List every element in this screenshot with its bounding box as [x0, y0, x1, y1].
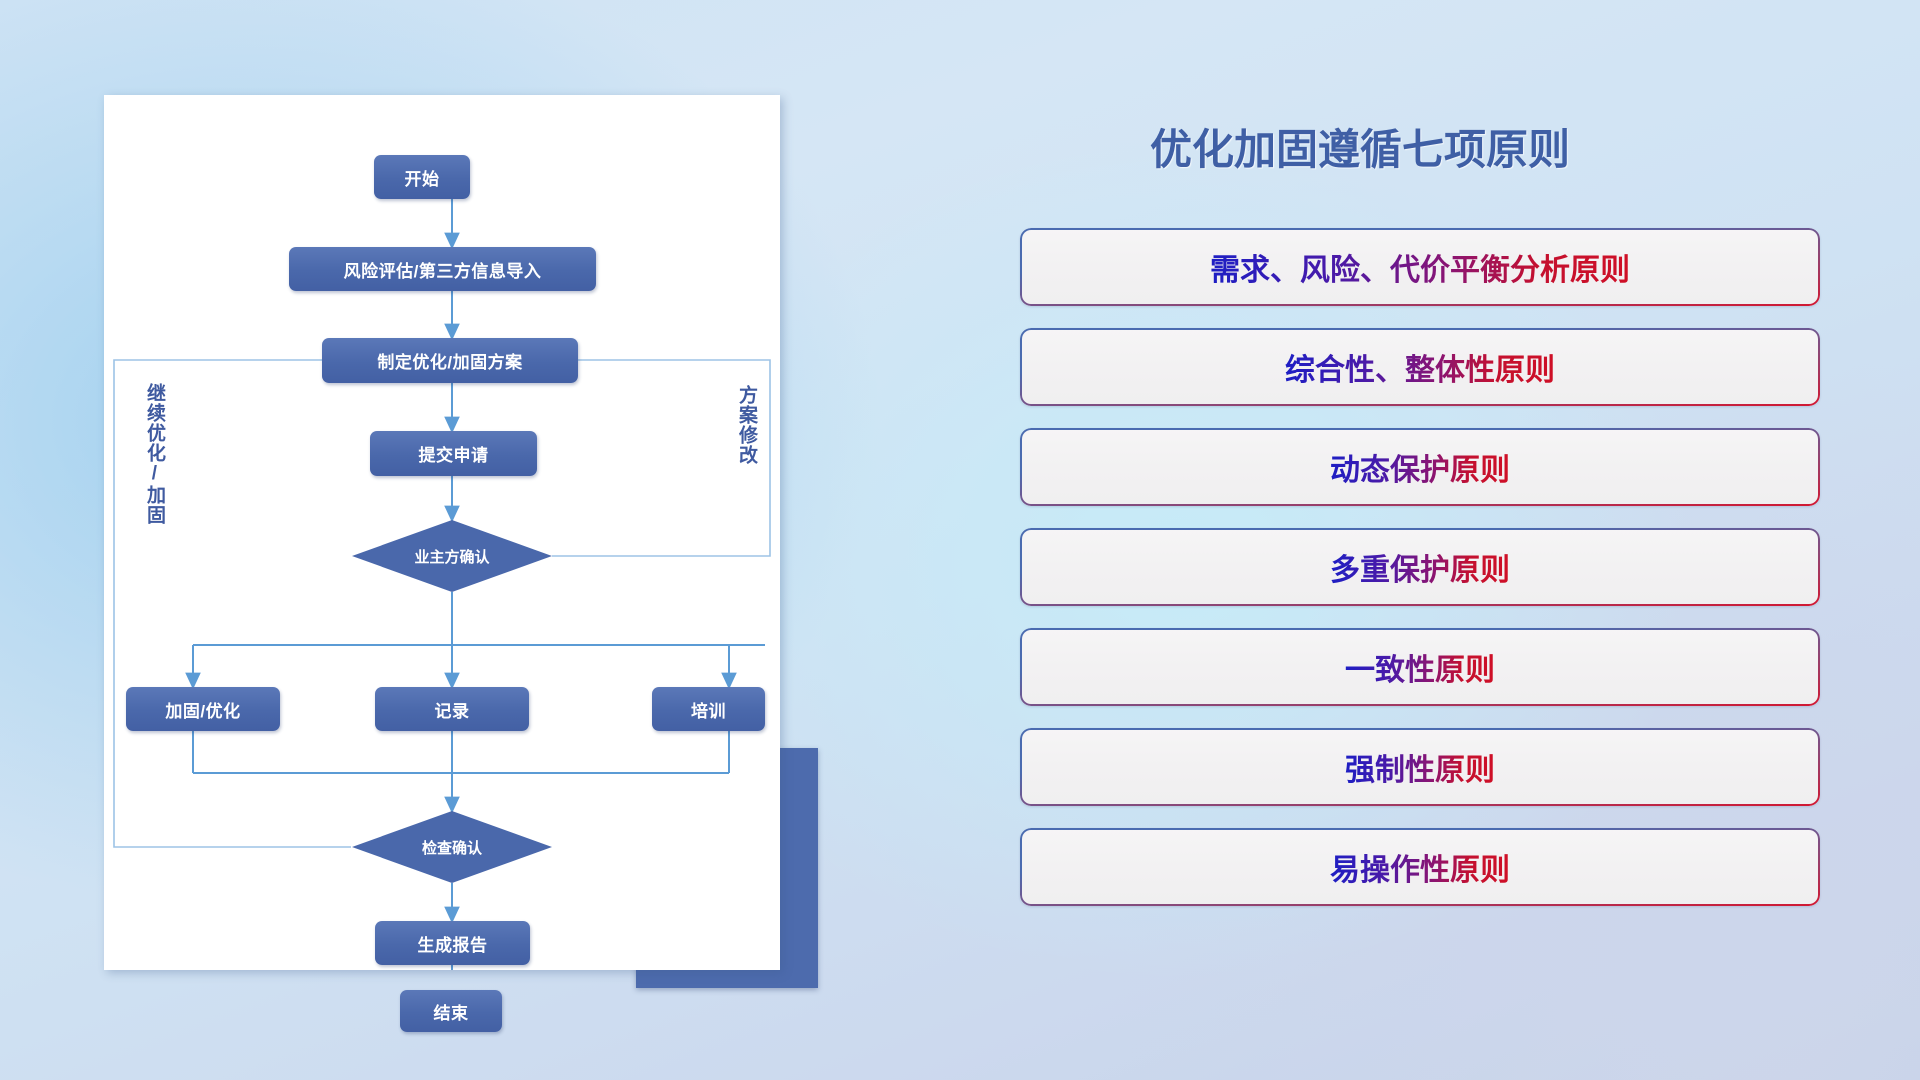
- flow-node-label: 培训: [691, 697, 726, 722]
- principle-label: 一致性原则: [1345, 645, 1495, 689]
- principle-item[interactable]: 易操作性原则: [1020, 828, 1820, 906]
- flow-node-label: 提交申请: [419, 441, 489, 466]
- principles-panel: 优化加固遵循七项原则 需求、风险、代价平衡分析原则 综合性、整体性原则 动态保护…: [1020, 100, 1860, 1000]
- flow-node-generate-report[interactable]: 生成报告: [375, 921, 530, 965]
- principle-item[interactable]: 动态保护原则: [1020, 428, 1820, 506]
- principle-item[interactable]: 多重保护原则: [1020, 528, 1820, 606]
- flow-node-label: 记录: [435, 697, 470, 722]
- flow-node-label: 风险评估/第三方信息导入: [344, 257, 542, 282]
- flow-node-label: 业主方确认: [414, 546, 489, 567]
- principles-list: 需求、风险、代价平衡分析原则 综合性、整体性原则 动态保护原则 多重保护原则 一…: [1020, 228, 1820, 928]
- slide-canvas: 开始 风险评估/第三方信息导入 制定优化/加固方案 提交申请 业主方确认 加固/…: [0, 0, 1920, 1080]
- principle-label: 综合性、整体性原则: [1285, 345, 1555, 389]
- flow-node-end[interactable]: 结束: [400, 990, 502, 1032]
- principle-label: 易操作性原则: [1330, 845, 1510, 889]
- edge-label-plan-revision: 方案修改: [736, 385, 756, 465]
- flow-node-training[interactable]: 培训: [652, 687, 765, 731]
- flow-node-label: 加固/优化: [165, 697, 240, 722]
- flowchart-card: 开始 风险评估/第三方信息导入 制定优化/加固方案 提交申请 业主方确认 加固/…: [104, 95, 780, 970]
- principle-item[interactable]: 需求、风险、代价平衡分析原则: [1020, 228, 1820, 306]
- principle-item[interactable]: 综合性、整体性原则: [1020, 328, 1820, 406]
- principle-item[interactable]: 一致性原则: [1020, 628, 1820, 706]
- flow-node-start[interactable]: 开始: [374, 155, 470, 199]
- flow-node-plan[interactable]: 制定优化/加固方案: [322, 338, 578, 383]
- flow-node-record[interactable]: 记录: [375, 687, 529, 731]
- principle-item[interactable]: 强制性原则: [1020, 728, 1820, 806]
- principle-label: 需求、风险、代价平衡分析原则: [1210, 245, 1630, 289]
- flow-node-risk-assessment[interactable]: 风险评估/第三方信息导入: [289, 247, 596, 291]
- edge-label-text: 方案修改: [736, 385, 757, 465]
- principle-label: 动态保护原则: [1330, 445, 1510, 489]
- flow-node-submit-application[interactable]: 提交申请: [370, 431, 537, 476]
- edge-label-continue-optimize: 继续优化/加固: [144, 383, 164, 525]
- flow-node-label: 结束: [434, 999, 469, 1024]
- flow-node-reinforce-optimize[interactable]: 加固/优化: [126, 687, 280, 731]
- principle-label: 强制性原则: [1345, 745, 1495, 789]
- panel-title: 优化加固遵循七项原则: [1150, 116, 1570, 177]
- edge-label-text: 继续优化/加固: [144, 383, 165, 525]
- flow-node-label: 生成报告: [418, 931, 488, 956]
- flow-node-label: 制定优化/加固方案: [377, 348, 522, 373]
- flow-node-label: 开始: [405, 165, 440, 190]
- principle-label: 多重保护原则: [1330, 545, 1510, 589]
- flow-node-label: 检查确认: [422, 837, 482, 858]
